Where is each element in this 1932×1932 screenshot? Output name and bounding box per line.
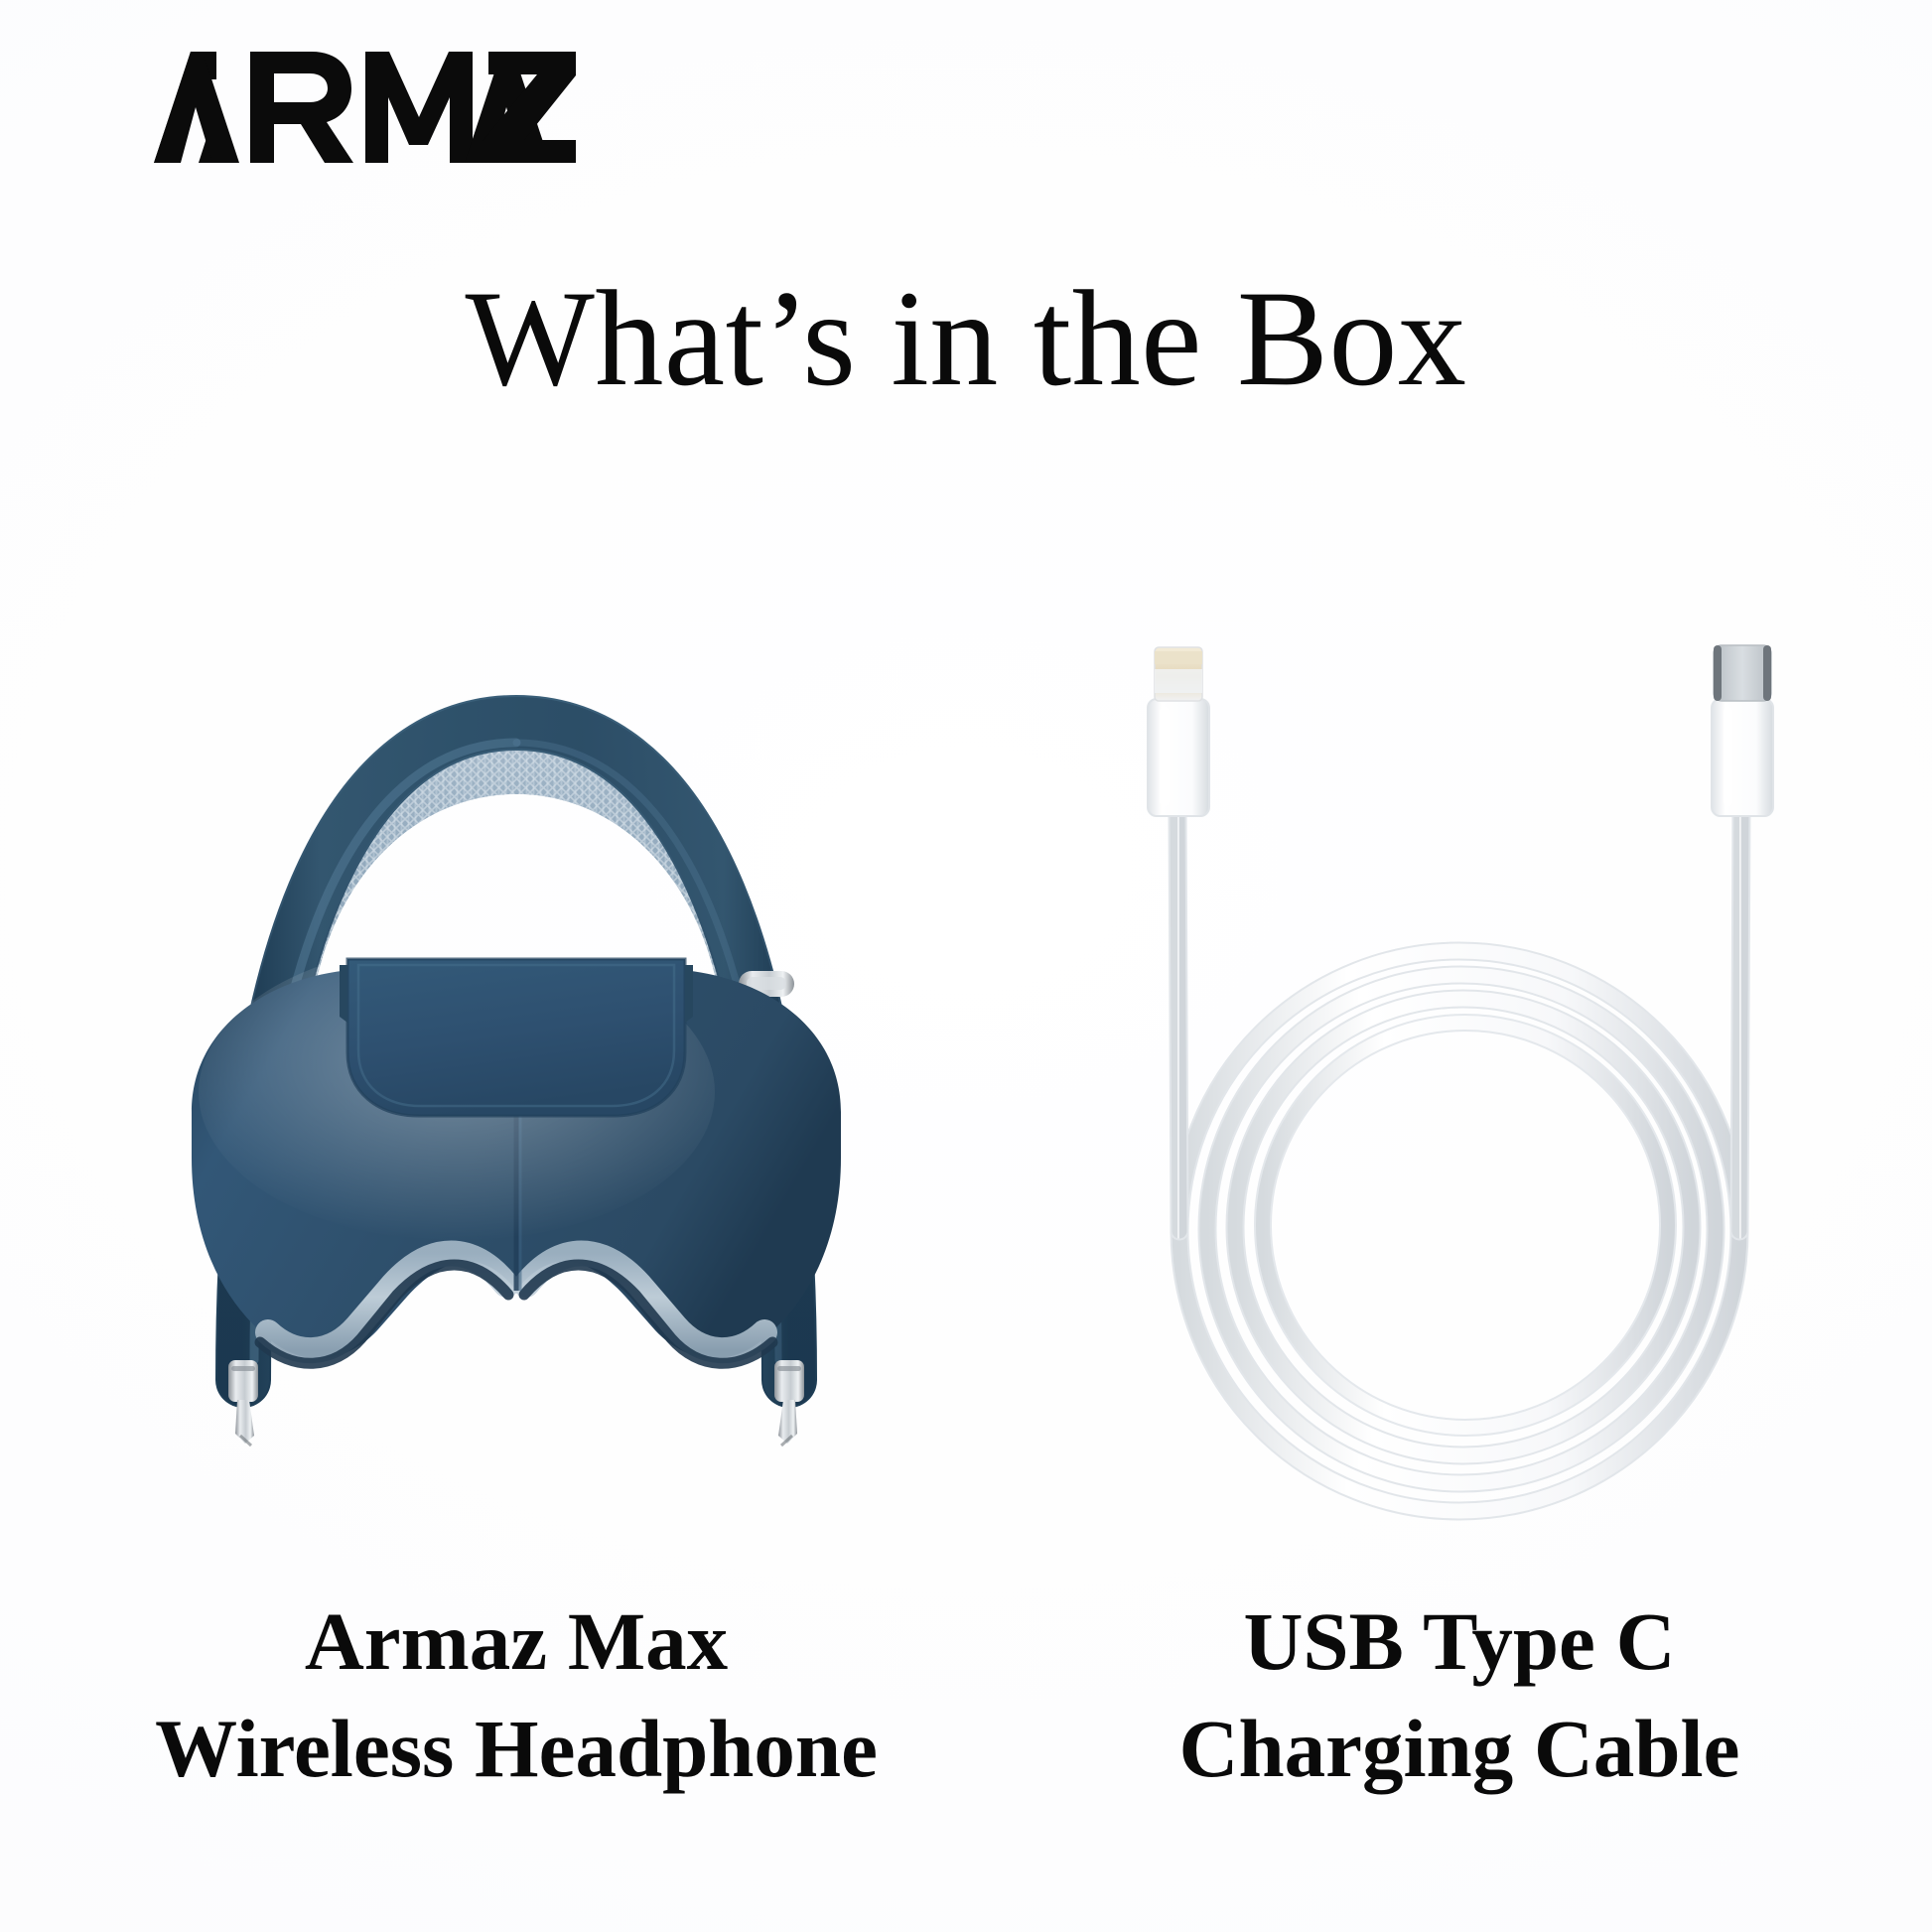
usb-c-connector [1712, 645, 1773, 816]
cable-coil [1179, 951, 1739, 1511]
headphone-caption-line-2: Wireless Headphone [30, 1696, 1003, 1803]
cable-image [1003, 596, 1916, 1579]
cable-caption: USB Type C Charging Cable [1003, 1588, 1916, 1803]
cable-caption-line-1: USB Type C [1003, 1588, 1916, 1696]
headphone-image [30, 596, 1003, 1579]
product-listing-image: ARMAZ What’s in the Box [0, 0, 1932, 1932]
smart-case-flap [340, 959, 693, 1116]
headphone-caption-line-1: Armaz Max [30, 1588, 1003, 1696]
product-item-headphone: Armaz Max Wireless Headphone [30, 596, 1003, 1847]
product-item-cable: USB Type C Charging Cable [1003, 596, 1916, 1847]
page-title: What’s in the Box [0, 270, 1932, 407]
lightning-connector [1148, 647, 1209, 816]
cable-caption-line-2: Charging Cable [1003, 1696, 1916, 1803]
headphone-caption: Armaz Max Wireless Headphone [30, 1588, 1003, 1803]
armaz-brand-logo: ARMAZ [99, 46, 576, 170]
